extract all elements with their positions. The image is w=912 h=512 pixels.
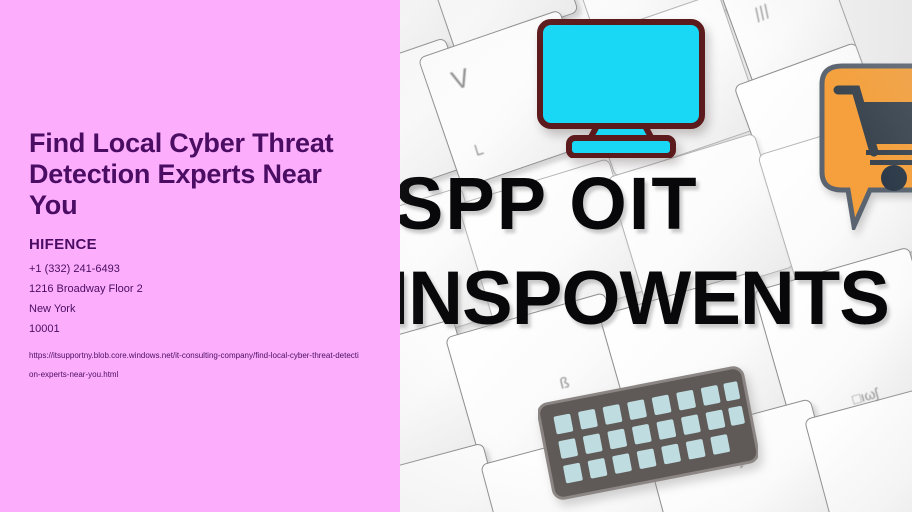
desktop-monitor-icon — [535, 18, 707, 158]
street-address: 1216 Broadway Floor 2 — [29, 279, 371, 299]
brand-name: HIFENCE — [29, 236, 371, 253]
shopping-cart-speech-bubble-icon — [808, 60, 912, 230]
promo-banner: Find Local Cyber Threat Detection Expert… — [0, 0, 912, 512]
info-panel: Find Local Cyber Threat Detection Expert… — [0, 0, 400, 512]
keyboard-illustration-icon — [538, 365, 758, 500]
page-title: Find Local Cyber Threat Detection Expert… — [29, 128, 371, 222]
hero-image: V └ ||| ß ♪ □ıωʃ — [400, 0, 912, 512]
phone-number: +1 (332) 241-6493 — [29, 259, 371, 279]
city: New York — [29, 299, 371, 319]
source-url: https://itsupportny.blob.core.windows.ne… — [29, 347, 359, 385]
postal-code: 10001 — [29, 319, 371, 339]
